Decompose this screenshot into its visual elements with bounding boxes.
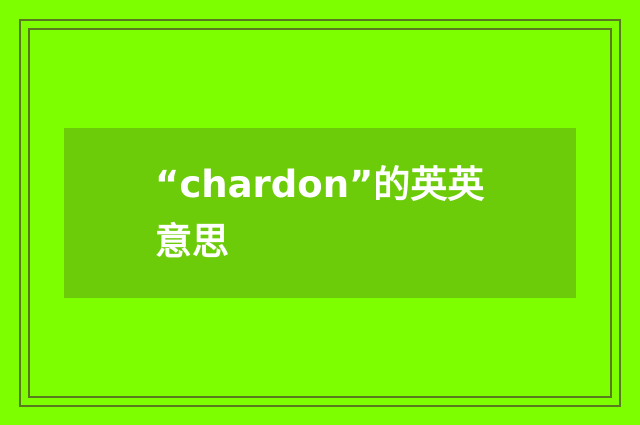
title-card: “chardon”的英英意思	[0, 0, 640, 425]
headline-panel: “chardon”的英英意思	[64, 128, 576, 298]
page-title: “chardon”的英英意思	[155, 156, 485, 270]
